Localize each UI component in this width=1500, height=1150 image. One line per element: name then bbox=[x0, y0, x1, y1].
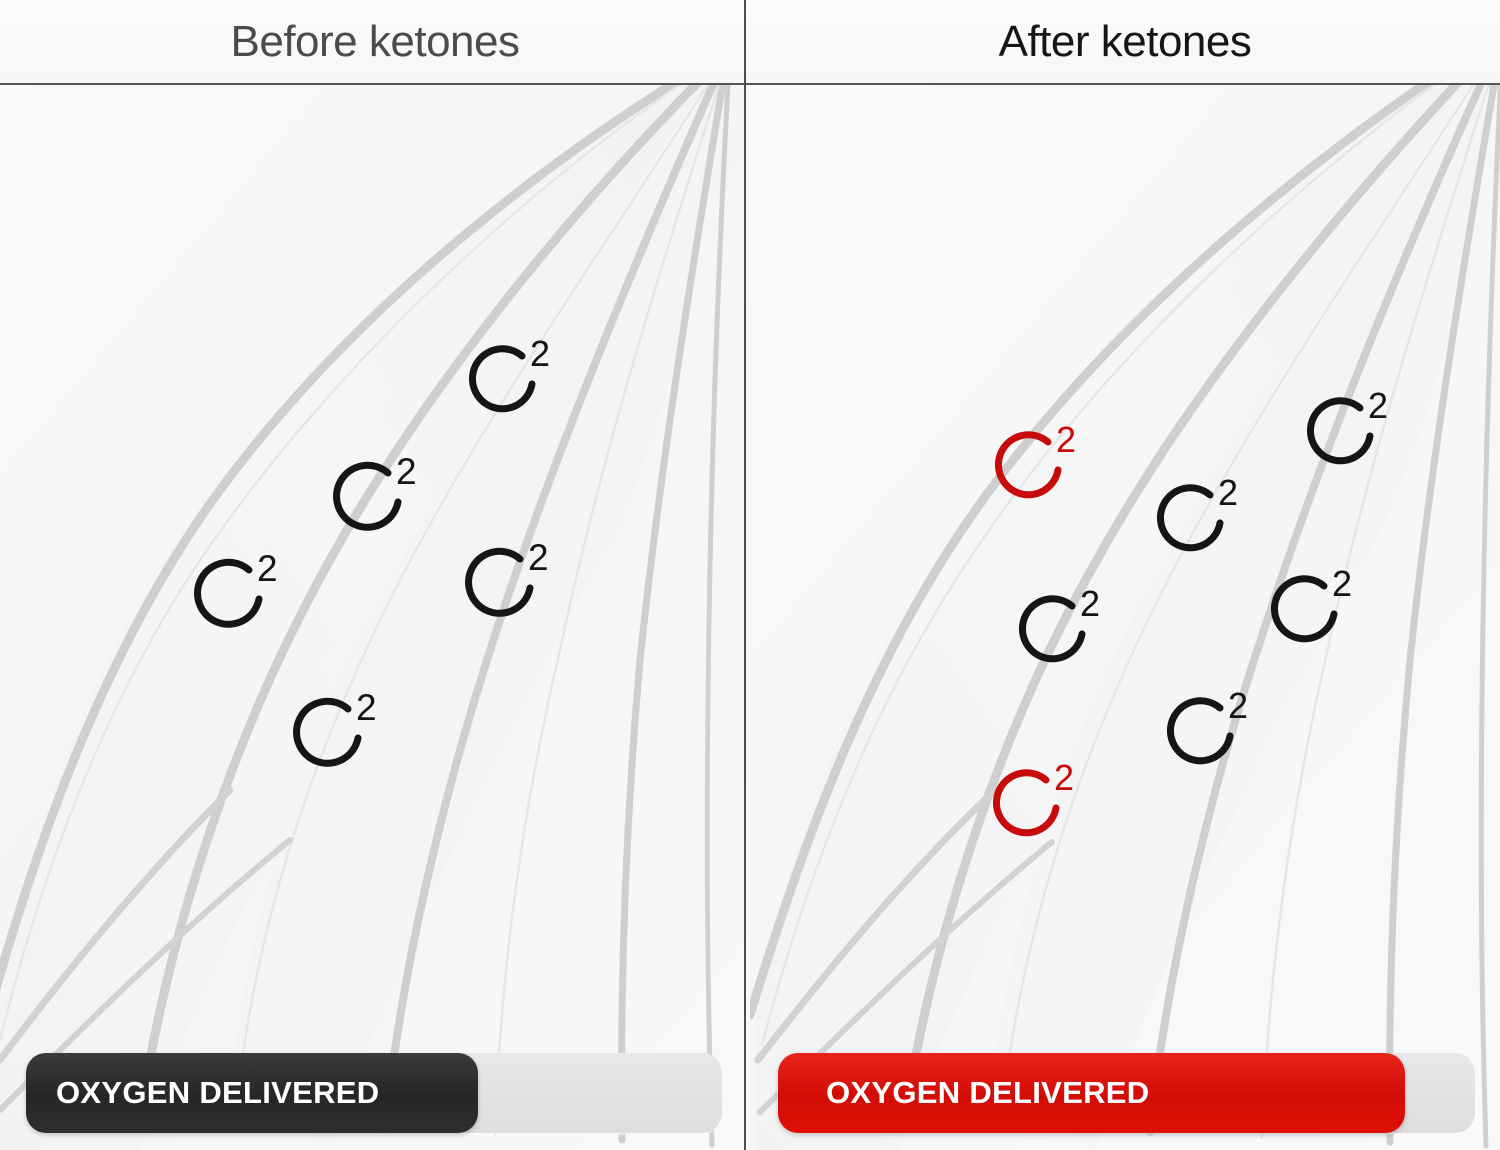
panel-before: Before ketones 2 2 2 2 bbox=[0, 0, 750, 1150]
o2-molecule: 2 bbox=[1010, 588, 1102, 680]
o2-subscript: 2 bbox=[1218, 472, 1238, 513]
progress-track: OXYGEN DELIVERED bbox=[778, 1053, 1475, 1133]
o2-subscript: 2 bbox=[1228, 685, 1248, 726]
panel-header-before: Before ketones bbox=[0, 0, 750, 85]
panel-title-after: After ketones bbox=[999, 20, 1252, 64]
o2-subscript: 2 bbox=[396, 451, 417, 492]
o2-subscript: 2 bbox=[1332, 563, 1352, 604]
panel-title-before: Before ketones bbox=[231, 20, 520, 64]
leaf-vein-artwork-left bbox=[0, 0, 750, 1150]
o2-molecule: 2 bbox=[186, 552, 280, 646]
progress-label: OXYGEN DELIVERED bbox=[826, 1075, 1149, 1111]
o2-subscript: 2 bbox=[257, 548, 278, 589]
o2-subscript: 2 bbox=[530, 333, 550, 374]
o2-molecule: 2 bbox=[1298, 390, 1390, 482]
progress-track: OXYGEN DELIVERED bbox=[26, 1053, 722, 1133]
o2-subscript: 2 bbox=[356, 687, 377, 728]
leaf-vein-artwork-right bbox=[750, 0, 1500, 1150]
o2-molecule: 2 bbox=[457, 541, 551, 635]
o2-subscript: 2 bbox=[1368, 385, 1388, 426]
progress-label: OXYGEN DELIVERED bbox=[56, 1075, 379, 1111]
o2-molecule: 2 bbox=[460, 338, 552, 430]
oxygen-delivered-progress-before[interactable]: OXYGEN DELIVERED bbox=[26, 1053, 722, 1133]
o2-subscript: 2 bbox=[1080, 583, 1100, 624]
o2-subscript: 2 bbox=[1056, 419, 1076, 460]
o2-molecule-highlight: 2 bbox=[984, 762, 1076, 854]
o2-molecule: 2 bbox=[1158, 690, 1250, 782]
o2-molecule: 2 bbox=[325, 455, 419, 549]
o2-molecule: 2 bbox=[1148, 477, 1240, 569]
o2-molecule: 2 bbox=[1262, 568, 1354, 660]
o2-molecule-highlight: 2 bbox=[986, 424, 1078, 516]
comparison-figure: Before ketones 2 2 2 2 bbox=[0, 0, 1500, 1150]
oxygen-delivered-progress-after[interactable]: OXYGEN DELIVERED bbox=[778, 1053, 1475, 1133]
o2-subscript: 2 bbox=[528, 537, 549, 578]
panel-after: After ketones 2 2 2 2 bbox=[750, 0, 1500, 1150]
progress-fill: OXYGEN DELIVERED bbox=[26, 1053, 478, 1133]
progress-fill: OXYGEN DELIVERED bbox=[778, 1053, 1405, 1133]
panel-divider bbox=[744, 0, 746, 1150]
o2-molecule: 2 bbox=[285, 691, 379, 785]
panel-header-after: After ketones bbox=[750, 0, 1500, 85]
o2-subscript: 2 bbox=[1054, 757, 1074, 798]
